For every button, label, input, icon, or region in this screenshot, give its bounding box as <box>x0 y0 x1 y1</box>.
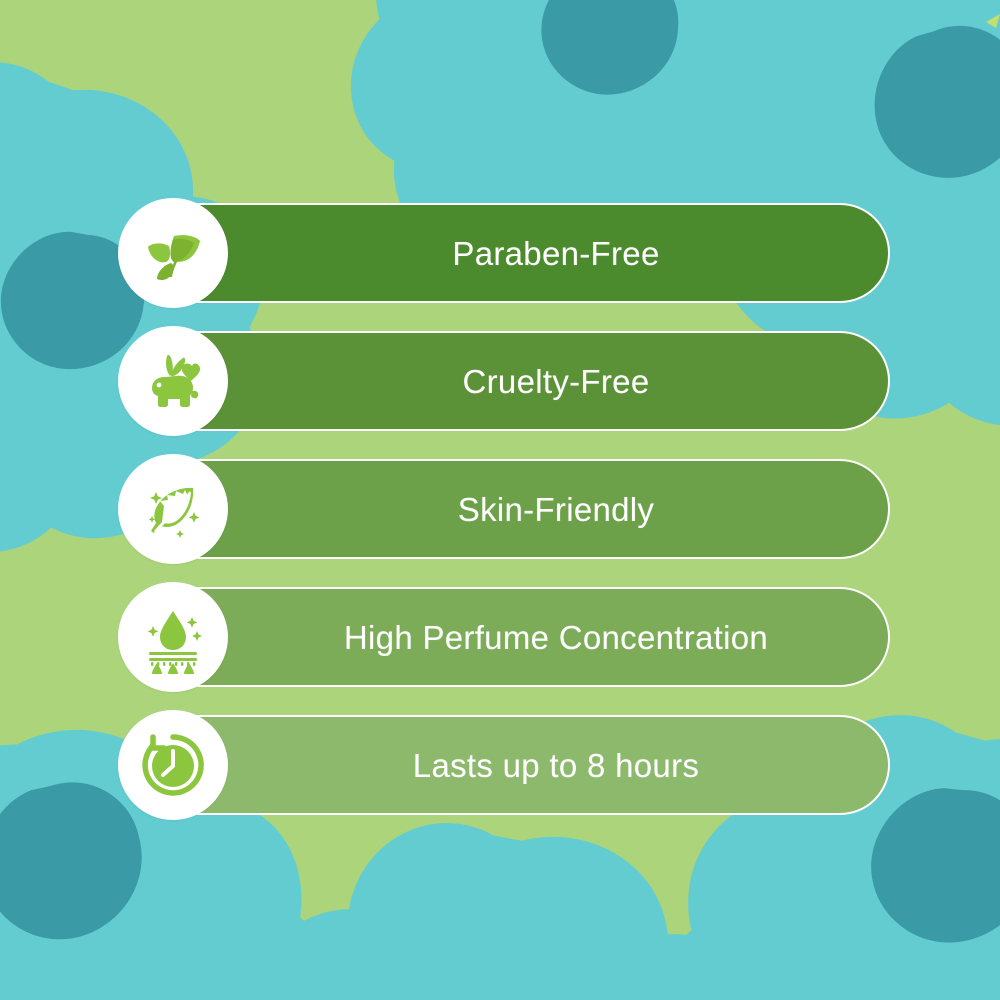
droplet-fabric-icon <box>136 600 210 674</box>
feature-label: Lasts up to 8 hours <box>323 749 717 782</box>
rabbit-eye <box>157 383 162 388</box>
feature-row-cruelty-free[interactable]: Cruelty-Free <box>118 331 890 431</box>
feature-bar: Lasts up to 8 hours <box>150 715 890 815</box>
rabbit-heart-icon <box>136 344 210 418</box>
feature-label: Paraben-Free <box>362 237 677 270</box>
feature-icon-badge <box>118 582 228 692</box>
promo-feature-graphic: Paraben-Free Cruelty-Free <box>0 0 1000 1000</box>
feature-bar: Skin-Friendly <box>150 459 890 559</box>
feature-label: Cruelty-Free <box>373 365 668 398</box>
feature-bar: Paraben-Free <box>150 203 890 303</box>
feature-row-skin-friendly[interactable]: Skin-Friendly <box>118 459 890 559</box>
clock-refresh-icon <box>136 728 210 802</box>
feature-bar: High Perfume Concentration <box>150 587 890 687</box>
feather-sparkle-icon <box>136 472 210 546</box>
feature-row-lasts-up-to-8-hours[interactable]: Lasts up to 8 hours <box>118 715 890 815</box>
feature-label: High Perfume Concentration <box>254 621 786 654</box>
feature-list: Paraben-Free Cruelty-Free <box>0 0 1000 1000</box>
feature-row-paraben-free[interactable]: Paraben-Free <box>118 203 890 303</box>
leaf-sprout-icon <box>136 216 210 290</box>
feature-icon-badge <box>118 710 228 820</box>
feature-icon-badge <box>118 454 228 564</box>
feature-row-high-perfume-concentration[interactable]: High Perfume Concentration <box>118 587 890 687</box>
feature-bar: Cruelty-Free <box>150 331 890 431</box>
feature-label: Skin-Friendly <box>368 493 672 526</box>
feature-icon-badge <box>118 326 228 436</box>
feature-icon-badge <box>118 198 228 308</box>
refresh-arrow <box>153 737 164 748</box>
